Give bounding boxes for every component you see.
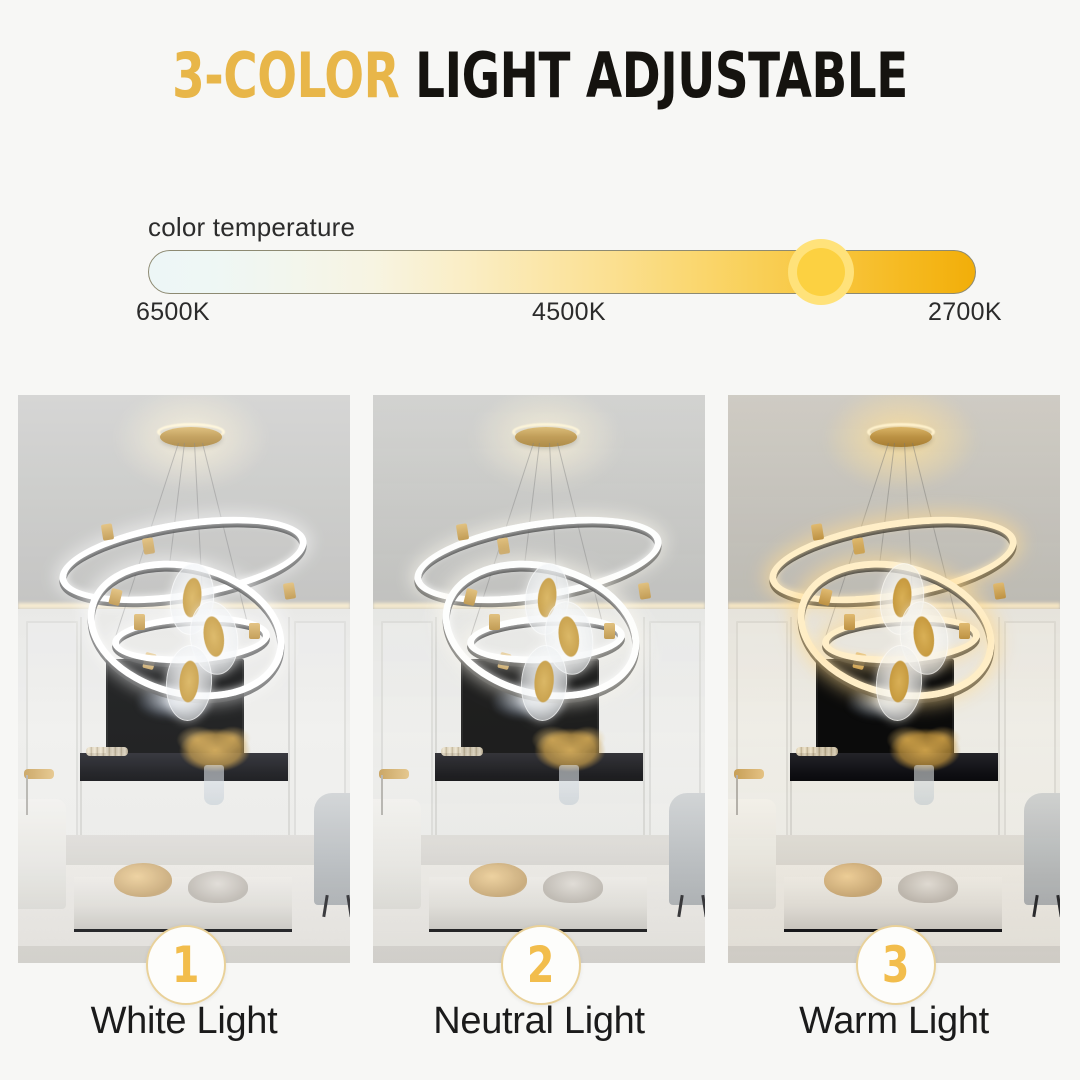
caption-neutral-light: Neutral Light (373, 1000, 705, 1043)
canopy-disc (160, 427, 222, 447)
side-lamp-shade (24, 769, 54, 779)
ring-connector (456, 523, 469, 541)
ceiling-canopy (870, 423, 932, 445)
armchair (1024, 793, 1060, 905)
title-highlight: 3-COLOR (172, 39, 399, 112)
sofa (18, 799, 66, 909)
wall-seam-right (643, 617, 645, 857)
ring-connector (844, 614, 855, 630)
gold-bowl (114, 863, 172, 897)
step-badge-1: 1 (146, 925, 226, 1005)
ring-connector (101, 523, 114, 541)
ceiling-canopy (515, 423, 577, 445)
coffee-table (74, 877, 292, 932)
product-photo-warm-light[interactable] (728, 395, 1060, 963)
side-lamp-shade (734, 769, 764, 779)
wall-seam-left (790, 617, 792, 857)
glass-bowl (898, 871, 958, 903)
armchair (669, 793, 705, 905)
ring-connector (638, 582, 651, 600)
caption-warm-light: Warm Light (728, 1000, 1060, 1043)
tick-label-6500k: 6500K (136, 298, 210, 327)
caption-white-light: White Light (18, 1000, 350, 1043)
ring-connector (811, 523, 824, 541)
room-scene (373, 395, 705, 963)
ring-connector (993, 582, 1006, 600)
step-badge-1-number: 1 (172, 940, 200, 990)
wall-seam-right (998, 617, 1000, 857)
side-lamp-shade (379, 769, 409, 779)
wall-seam-right (288, 617, 290, 857)
ring-connector (604, 623, 615, 639)
glass-vase (204, 765, 224, 805)
side-lamp-stem (26, 775, 28, 815)
glass-vase (914, 765, 934, 805)
ring-connector (852, 537, 865, 555)
color-temperature-label: color temperature (148, 212, 355, 243)
canopy-disc (870, 427, 932, 447)
ring-connector (489, 614, 500, 630)
product-photo-row (0, 395, 1080, 963)
color-temperature-slider-section: color temperature 6500K 4500K 2700K (0, 200, 1080, 340)
gold-bowl (824, 863, 882, 897)
glass-vase (559, 765, 579, 805)
step-badge-2-number: 2 (527, 940, 555, 990)
tick-label-2700k: 2700K (928, 298, 1002, 327)
slider-knob[interactable] (788, 239, 854, 305)
wall-seam-left (80, 617, 82, 857)
console-decor (86, 747, 128, 756)
ring-connector (497, 537, 510, 555)
ceiling-canopy (160, 423, 222, 445)
console-decor (796, 747, 838, 756)
ring-connector (249, 623, 260, 639)
sofa (373, 799, 421, 909)
ring-connector (959, 623, 970, 639)
page-title: 3-COLOR LIGHT ADJUSTABLE (172, 39, 908, 112)
sofa (728, 799, 776, 909)
room-scene (18, 395, 350, 963)
product-photo-neutral-light[interactable] (373, 395, 705, 963)
side-lamp-stem (381, 775, 383, 815)
coffee-table (429, 877, 647, 932)
tick-label-4500k: 4500K (532, 298, 606, 327)
armchair (314, 793, 350, 905)
coffee-table (784, 877, 1002, 932)
title-rest: LIGHT ADJUSTABLE (399, 39, 908, 112)
header-banner: 3-COLOR LIGHT ADJUSTABLE (0, 0, 1080, 150)
slider-track-wrapper[interactable] (148, 250, 976, 294)
step-badge-3: 3 (856, 925, 936, 1005)
step-badge-2: 2 (501, 925, 581, 1005)
product-photo-white-light[interactable] (18, 395, 350, 963)
step-badge-3-number: 3 (882, 940, 910, 990)
side-lamp-stem (736, 775, 738, 815)
canopy-disc (515, 427, 577, 447)
gold-bowl (469, 863, 527, 897)
wall-seam-left (435, 617, 437, 857)
glass-bowl (543, 871, 603, 903)
console-decor (441, 747, 483, 756)
ring-connector (134, 614, 145, 630)
ring-connector (283, 582, 296, 600)
room-scene (728, 395, 1060, 963)
ring-connector (142, 537, 155, 555)
glass-bowl (188, 871, 248, 903)
